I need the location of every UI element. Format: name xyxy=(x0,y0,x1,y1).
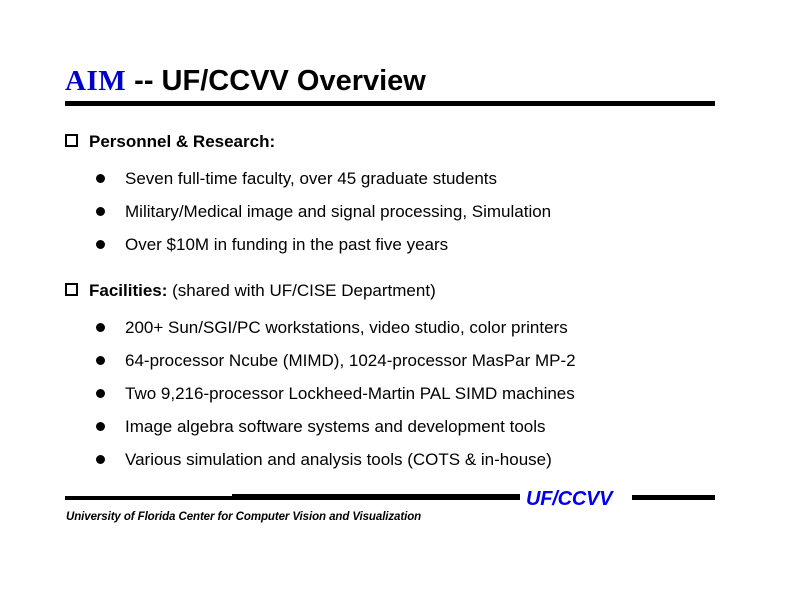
list-item-text: Over $10M in funding in the past five ye… xyxy=(125,235,448,254)
footer-divider-middle xyxy=(232,494,520,500)
section-label: Personnel & Research: xyxy=(89,132,275,151)
list-item: Various simulation and analysis tools (C… xyxy=(96,450,552,470)
round-bullet-icon xyxy=(96,455,105,464)
title-remainder: -- UF/CCVV Overview xyxy=(126,65,426,97)
section-header-personnel: Personnel & Research: xyxy=(65,132,275,152)
list-item: Military/Medical image and signal proces… xyxy=(96,202,551,222)
list-item-text: Seven full-time faculty, over 45 graduat… xyxy=(125,169,497,188)
list-item: Image algebra software systems and devel… xyxy=(96,417,546,437)
list-item: Over $10M in funding in the past five ye… xyxy=(96,235,448,255)
list-item-text: 200+ Sun/SGI/PC workstations, video stud… xyxy=(125,318,568,337)
footer-organization-name: University of Florida Center for Compute… xyxy=(66,509,421,523)
round-bullet-icon xyxy=(96,422,105,431)
list-item-text: Military/Medical image and signal proces… xyxy=(125,202,551,221)
round-bullet-icon xyxy=(96,323,105,332)
footer-divider-left xyxy=(65,496,232,500)
section-note: (shared with UF/CISE Department) xyxy=(167,281,435,300)
round-bullet-icon xyxy=(96,389,105,398)
footer-divider-right xyxy=(632,495,715,500)
section-label: Facilities: xyxy=(89,281,167,300)
list-item-text: 64-processor Ncube (MIMD), 1024-processo… xyxy=(125,351,576,370)
slide: AIM -- UF/CCVV Overview Personnel & Rese… xyxy=(0,0,792,612)
list-item: Seven full-time faculty, over 45 graduat… xyxy=(96,169,497,189)
round-bullet-icon xyxy=(96,240,105,249)
hollow-square-bullet-icon xyxy=(65,134,80,147)
list-item: 64-processor Ncube (MIMD), 1024-processo… xyxy=(96,351,576,371)
round-bullet-icon xyxy=(96,356,105,365)
title-brand-aim: AIM xyxy=(65,65,126,97)
round-bullet-icon xyxy=(96,207,105,216)
list-item: 200+ Sun/SGI/PC workstations, video stud… xyxy=(96,318,568,338)
list-item: Two 9,216-processor Lockheed-Martin PAL … xyxy=(96,384,575,404)
footer-logo-ufccvv: UF/CCVV xyxy=(526,488,612,511)
list-item-text: Two 9,216-processor Lockheed-Martin PAL … xyxy=(125,384,575,403)
hollow-square-bullet-icon xyxy=(65,283,80,296)
list-item-text: Various simulation and analysis tools (C… xyxy=(125,450,552,469)
section-header-facilities: Facilities: (shared with UF/CISE Departm… xyxy=(65,281,436,301)
round-bullet-icon xyxy=(96,174,105,183)
title-divider xyxy=(65,101,715,106)
list-item-text: Image algebra software systems and devel… xyxy=(125,417,546,436)
